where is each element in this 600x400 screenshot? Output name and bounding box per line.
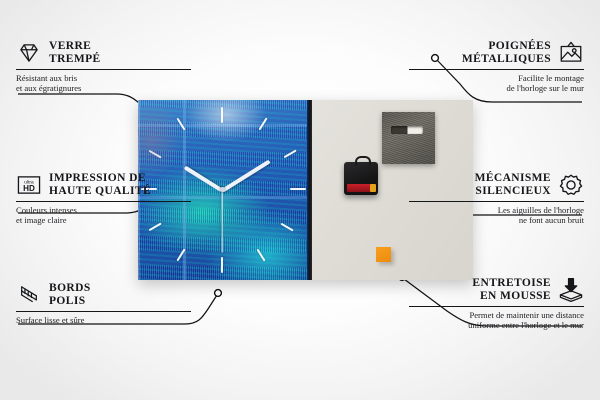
divider (16, 201, 191, 202)
feature-bords-polis: BORDS POLIS Surface lisse et sûre (16, 282, 191, 325)
second-hand (221, 191, 222, 253)
divider (409, 201, 584, 202)
diamond-icon (16, 40, 42, 66)
mechanism-loop (355, 156, 371, 166)
divider (16, 311, 191, 312)
polished-edges-icon (16, 282, 42, 308)
feature-title: MÉCANISME SILENCIEUX (475, 172, 551, 198)
feature-subtitle: Surface lisse et sûre (16, 315, 191, 325)
feature-title: BORDS POLIS (49, 282, 91, 308)
feature-title: IMPRESSION DE HAUTE QUALITÉ (49, 172, 151, 198)
feature-subtitle: Résistant aux bris et aux égratignures (16, 73, 191, 94)
foam-spacer-icon (558, 277, 584, 303)
battery (347, 184, 375, 192)
divider (16, 69, 191, 70)
feature-title: ENTRETOISE EN MOUSSE (472, 277, 551, 303)
feature-subtitle: Facilite le montage de l'horloge sur le … (409, 73, 584, 94)
divider (409, 306, 584, 307)
picture-hanger-icon (558, 40, 584, 66)
feature-subtitle: Permet de maintenir une distance uniform… (409, 310, 584, 331)
infographic-canvas: VERRE TREMPÉ Résistant aux bris et aux é… (0, 0, 600, 400)
minute-hand (221, 160, 270, 193)
ultra-hd-icon: ultra HD (16, 172, 42, 198)
metal-hanging-plate (382, 112, 435, 164)
feature-verre-trempe: VERRE TREMPÉ Résistant aux bris et aux é… (16, 40, 191, 94)
foam-spacer (376, 247, 391, 262)
divider (409, 69, 584, 70)
feature-title: VERRE TREMPÉ (49, 40, 101, 66)
feature-poignees-metalliques: POIGNÉES MÉTALLIQUES Facilite le montage… (409, 40, 584, 94)
feature-mecanisme-silencieux: MÉCANISME SILENCIEUX Les aiguilles de l'… (409, 172, 584, 226)
hanging-slot (391, 126, 423, 134)
feature-impression-haute-qualite: ultra HD IMPRESSION DE HAUTE QUALITÉ Cou… (16, 172, 191, 226)
clock-mechanism (344, 162, 378, 195)
svg-text:HD: HD (23, 184, 35, 193)
gear-icon (558, 172, 584, 198)
feature-subtitle: Les aiguilles de l'horloge ne font aucun… (409, 205, 584, 226)
leader-dot-bords (215, 290, 222, 297)
feature-entretoise-en-mousse: ENTRETOISE EN MOUSSE Permet de maintenir… (409, 277, 584, 331)
feature-subtitle: Couleurs intenses et image claire (16, 205, 191, 226)
feature-title: POIGNÉES MÉTALLIQUES (462, 40, 551, 66)
